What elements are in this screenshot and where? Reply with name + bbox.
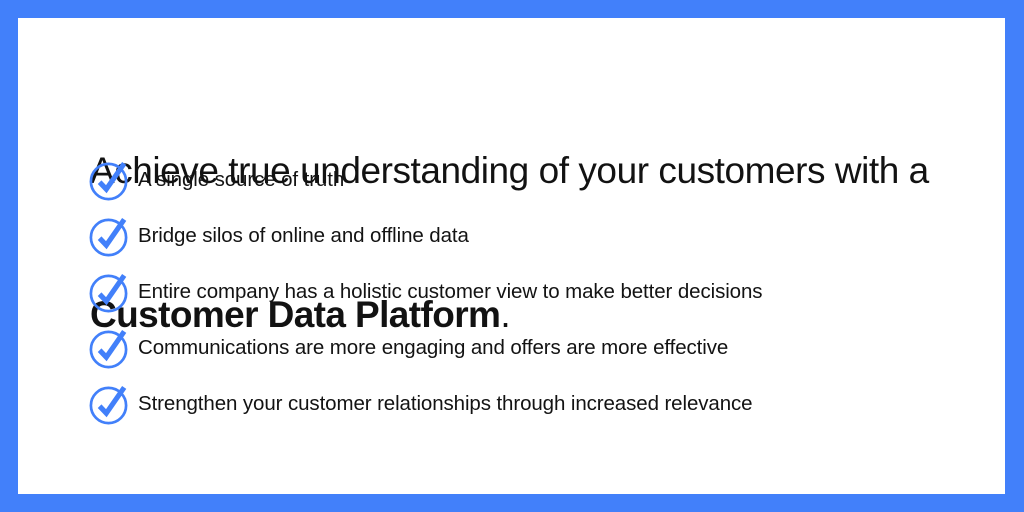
check-circle-icon [88, 270, 132, 314]
slide-card: Achieve true understanding of your custo… [18, 18, 1005, 494]
list-item-label: Strengthen your customer relationships t… [138, 391, 752, 417]
check-circle-icon [88, 382, 132, 426]
list-item-label: Bridge silos of online and offline data [138, 223, 469, 249]
list-item: Bridge silos of online and offline data [88, 208, 968, 264]
check-circle-icon [88, 326, 132, 370]
list-item-label: Communications are more engaging and off… [138, 335, 728, 361]
check-circle-icon [88, 158, 132, 202]
slide-frame: Achieve true understanding of your custo… [0, 0, 1024, 512]
list-item: Strengthen your customer relationships t… [88, 376, 968, 432]
check-circle-icon [88, 214, 132, 258]
benefit-list: A single source of truth Bridge silos of… [88, 152, 968, 432]
list-item: Entire company has a holistic customer v… [88, 264, 968, 320]
list-item: A single source of truth [88, 152, 968, 208]
list-item-label: Entire company has a holistic customer v… [138, 279, 762, 305]
list-item-label: A single source of truth [138, 167, 344, 193]
list-item: Communications are more engaging and off… [88, 320, 968, 376]
